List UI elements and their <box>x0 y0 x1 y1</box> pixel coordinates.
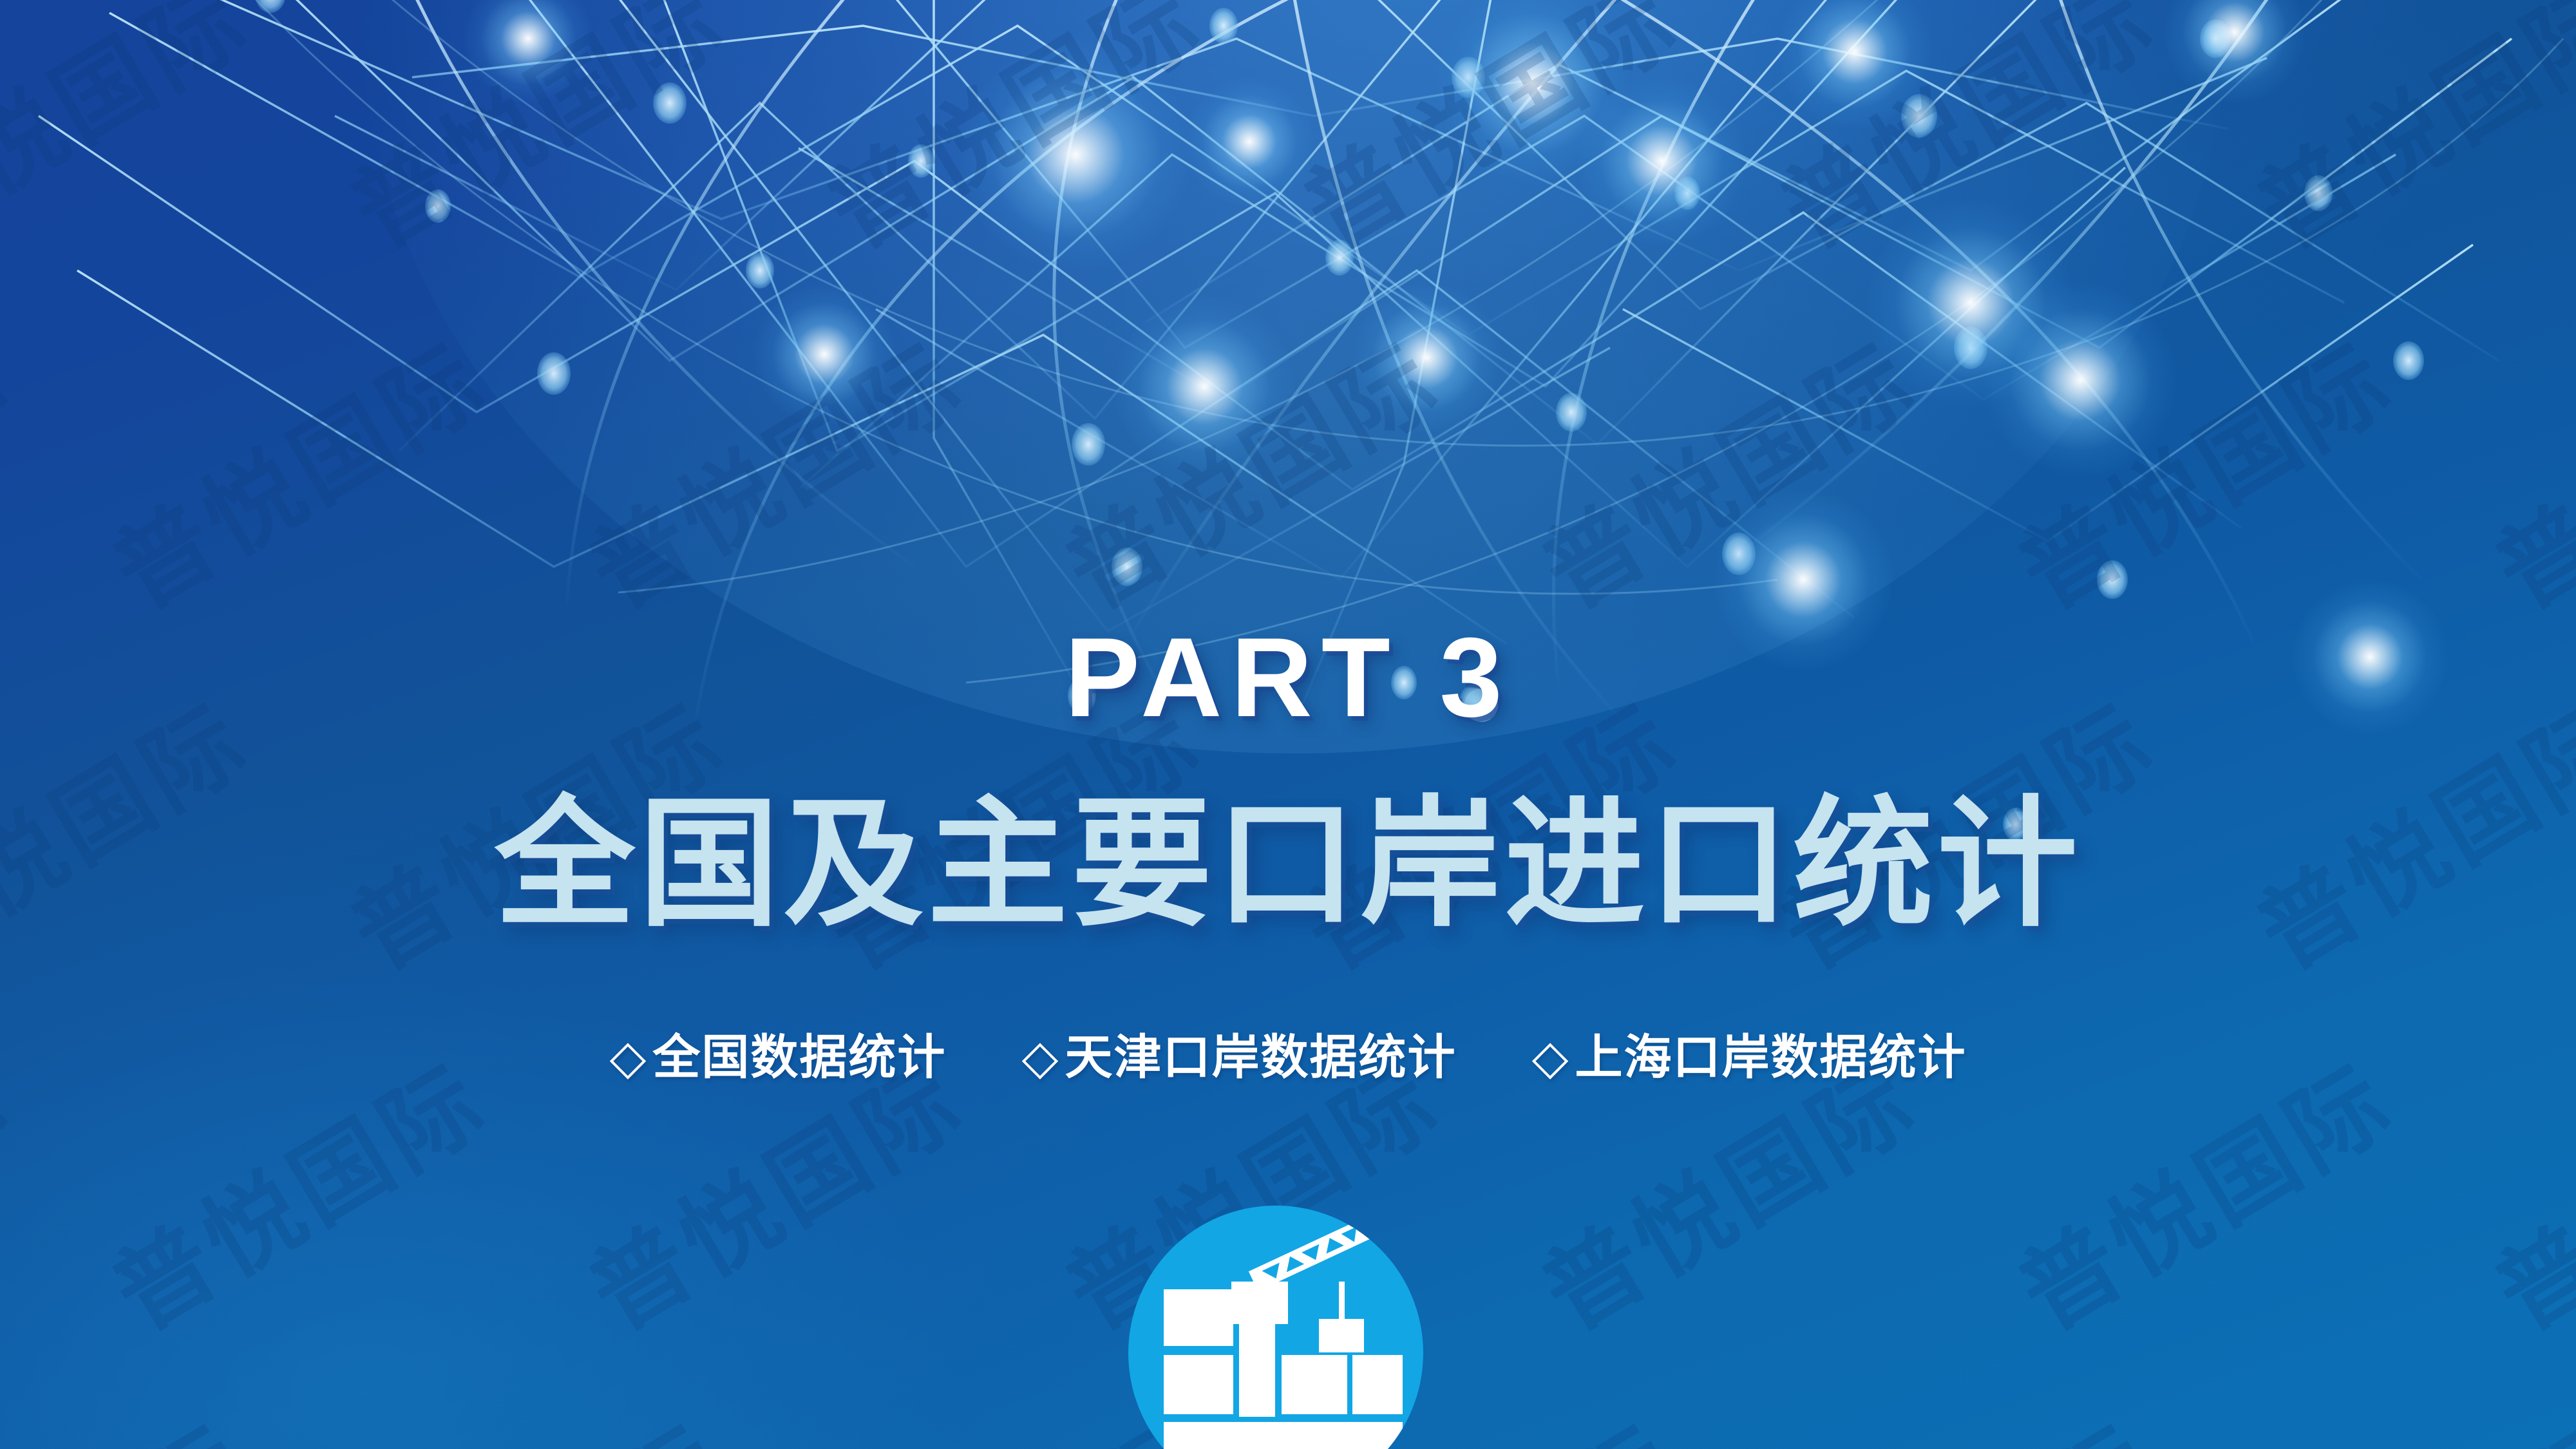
presentation-slide: 普悦国际普悦国际普悦国际普悦国际普悦国际普悦国际普悦国际普悦国际普悦国际普悦国际… <box>0 0 2576 1449</box>
port-crane-glyph <box>1128 1206 1423 1449</box>
subtitle-item-0-label: 全国数据统计 <box>652 1030 946 1084</box>
subtitle-list: ◇全国数据统计 ◇天津口岸数据统计 ◇上海口岸数据统计 <box>0 1034 2576 1081</box>
diamond-bullet-icon: ◇ <box>609 1034 647 1081</box>
slide-content: PART 3 全国及主要口岸进口统计 ◇全国数据统计 ◇天津口岸数据统计 ◇上海… <box>0 0 2576 1449</box>
port-crane-containers-icon <box>1128 1206 1423 1449</box>
subtitle-item-1: ◇天津口岸数据统计 <box>1022 1034 1457 1081</box>
page-title: 全国及主要口岸进口统计 <box>0 789 2576 940</box>
subtitle-item-0: ◇全国数据统计 <box>609 1034 946 1081</box>
subtitle-item-2: ◇上海口岸数据统计 <box>1532 1034 1967 1081</box>
section-label: PART 3 <box>0 621 2576 734</box>
subtitle-item-1-label: 天津口岸数据统计 <box>1065 1030 1456 1084</box>
diamond-bullet-icon: ◇ <box>1532 1034 1570 1081</box>
subtitle-item-2-label: 上海口岸数据统计 <box>1575 1030 1967 1084</box>
diamond-bullet-icon: ◇ <box>1022 1034 1060 1081</box>
